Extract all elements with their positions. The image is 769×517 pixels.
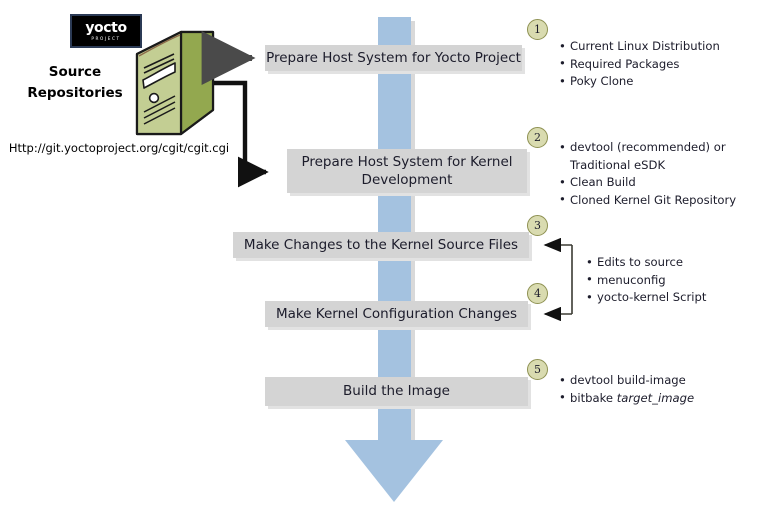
- source-repositories-label: Source Repositories: [10, 62, 140, 104]
- list-item: bitbake target_image: [570, 390, 756, 408]
- step-badge-2: 2: [527, 127, 548, 148]
- list-item: Current Linux Distribution: [570, 38, 766, 56]
- list-item: Edits to source: [597, 254, 763, 272]
- yocto-logo-sub-text: PROJECT: [91, 37, 120, 41]
- step-badge-4: 4: [527, 283, 548, 304]
- list-item: devtool (recommended) or Traditional eSD…: [570, 139, 768, 174]
- main-flow-arrow-head: [345, 440, 443, 502]
- list-item: Required Packages: [570, 56, 766, 74]
- process-box-3-label: Make Changes to the Kernel Source Files: [244, 236, 518, 254]
- step-badge-3: 3: [527, 215, 548, 236]
- process-box-prepare-host-kernel[interactable]: Prepare Host System for Kernel Developme…: [287, 149, 527, 193]
- process-box-2-label-line1: Prepare Host System for Kernel: [301, 154, 512, 170]
- list-item: menuconfig: [597, 272, 763, 290]
- process-box-1-label: Prepare Host System for Yocto Project: [266, 49, 521, 67]
- process-box-2-label-line2: Development: [362, 172, 453, 188]
- bitbake-target-image-arg: target_image: [617, 391, 694, 405]
- list-item: Poky Clone: [570, 73, 766, 91]
- source-label-line1: Source: [10, 62, 140, 83]
- bullets-step-2: devtool (recommended) or Traditional eSD…: [556, 139, 768, 209]
- diagram-canvas: yocto PROJECT Source Repositories Http:/…: [0, 0, 769, 517]
- list-item: yocto-kernel Script: [597, 289, 763, 307]
- bullets-step-1: Current Linux Distribution Required Pack…: [556, 38, 766, 91]
- process-box-make-kernel-config-changes[interactable]: Make Kernel Configuration Changes: [265, 301, 528, 327]
- process-box-4-label: Make Kernel Configuration Changes: [276, 305, 517, 323]
- step-badge-1: 1: [527, 19, 548, 40]
- bullets-step-5: devtool build-image bitbake target_image: [556, 372, 756, 407]
- bullets-steps-3-4: Edits to source menuconfig yocto-kernel …: [583, 254, 763, 307]
- list-item: Clean Build: [570, 174, 768, 192]
- source-label-line2: Repositories: [10, 83, 140, 104]
- process-box-make-kernel-source-changes[interactable]: Make Changes to the Kernel Source Files: [233, 232, 529, 258]
- list-item: devtool build-image: [570, 372, 756, 390]
- yocto-logo-main-text: yocto: [85, 21, 126, 35]
- list-item: Cloned Kernel Git Repository: [570, 192, 768, 210]
- process-box-2-label: Prepare Host System for Kernel Developme…: [301, 153, 512, 189]
- source-repositories-url: Http://git.yoctoproject.org/cgit/cgit.cg…: [4, 141, 234, 155]
- bitbake-command-prefix: bitbake: [570, 391, 617, 405]
- step-badge-5: 5: [527, 359, 548, 380]
- arrow-server-to-step2: [214, 83, 266, 172]
- process-box-5-label: Build the Image: [343, 382, 450, 400]
- loop-bracket-steps-3-4: [545, 245, 572, 314]
- process-box-build-the-image[interactable]: Build the Image: [265, 377, 528, 406]
- server-tower-icon: [134, 30, 216, 137]
- yocto-project-logo: yocto PROJECT: [70, 14, 142, 48]
- process-box-prepare-host-yocto[interactable]: Prepare Host System for Yocto Project: [265, 45, 522, 71]
